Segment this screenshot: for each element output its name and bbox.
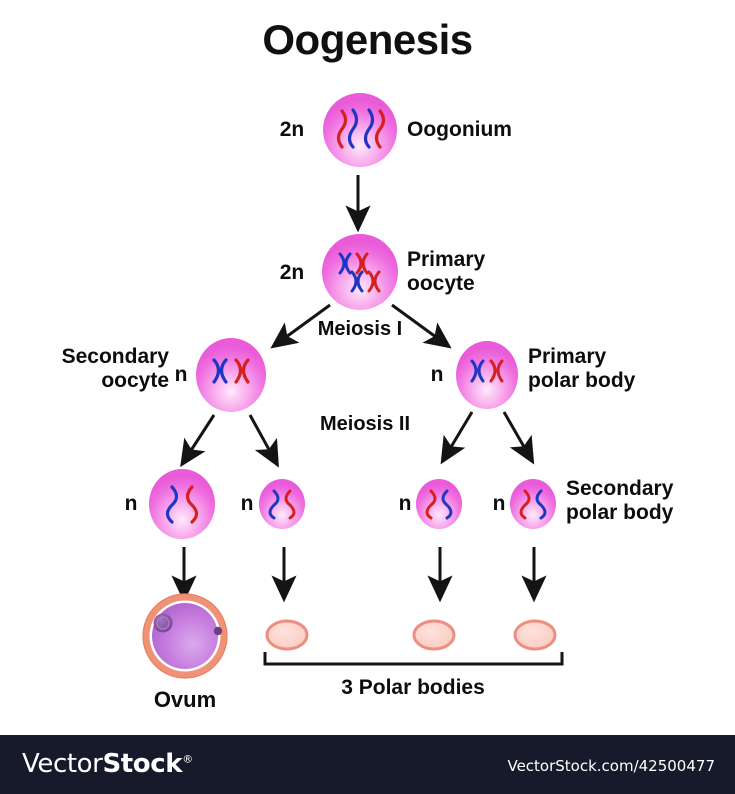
ploidy-label-polar-body-3: n xyxy=(392,492,418,516)
ploidy-label-primary-polar-body: n xyxy=(424,363,450,387)
vectorstock-logo: VectorStock® xyxy=(22,749,193,779)
ploidy-label-polar-body-2: n xyxy=(234,492,260,516)
cell-ovum xyxy=(143,594,227,678)
polar-body-flat-1 xyxy=(267,621,307,649)
ploidy-label-ootid: n xyxy=(118,492,144,516)
cell-primary-oocyte xyxy=(322,234,398,310)
ploidy-label-secondary-polar-body: n xyxy=(486,492,512,516)
cell-secondary-polar-body xyxy=(510,479,556,529)
cell-polar-body-2 xyxy=(259,479,305,529)
label-meiosis-2: Meiosis II xyxy=(300,413,430,435)
label-ovum: Ovum xyxy=(125,688,245,713)
arrow-meiosis2-left-a xyxy=(188,415,214,455)
polar-bodies-bracket xyxy=(265,652,562,664)
watermark-url: VectorStock.com/42500477 xyxy=(507,757,715,775)
arrow-meiosis2-right-a xyxy=(448,412,472,452)
arrow-meiosis2-right-b xyxy=(504,412,527,452)
label-3-polar-bodies: 3 Polar bodies xyxy=(313,676,513,700)
polar-body-flat-2 xyxy=(414,621,454,649)
cell-ootid xyxy=(149,469,215,539)
label-secondary-polar-body: Secondary polar body xyxy=(566,477,673,524)
cell-primary-polar-body xyxy=(456,341,518,409)
label-primary-polar-body: Primary polar body xyxy=(528,345,635,392)
cell-polar-body-3 xyxy=(416,479,462,529)
polar-body-flat-3 xyxy=(515,621,555,649)
label-oogonium: Oogonium xyxy=(407,118,512,142)
logo-text-bold: Stock xyxy=(102,749,182,779)
ploidy-label-secondary-oocyte: n xyxy=(168,363,194,387)
cell-oogonium xyxy=(323,93,397,167)
label-meiosis-1: Meiosis I xyxy=(300,318,420,340)
arrow-meiosis2-left-b xyxy=(250,415,272,455)
label-primary-oocyte: Primary oocyte xyxy=(407,248,485,295)
ploidy-label-primary-oocyte: 2n xyxy=(272,261,312,285)
diagram-canvas: Oogenesis xyxy=(0,0,735,794)
ploidy-label-oogonium: 2n xyxy=(272,118,312,142)
cell-secondary-oocyte xyxy=(196,338,266,412)
watermark-bar: VectorStock® VectorStock.com/42500477 xyxy=(0,735,735,794)
label-secondary-oocyte: Secondary oocyte xyxy=(24,345,169,392)
logo-text-light: Vector xyxy=(22,749,102,779)
registered-mark-icon: ® xyxy=(182,752,193,765)
